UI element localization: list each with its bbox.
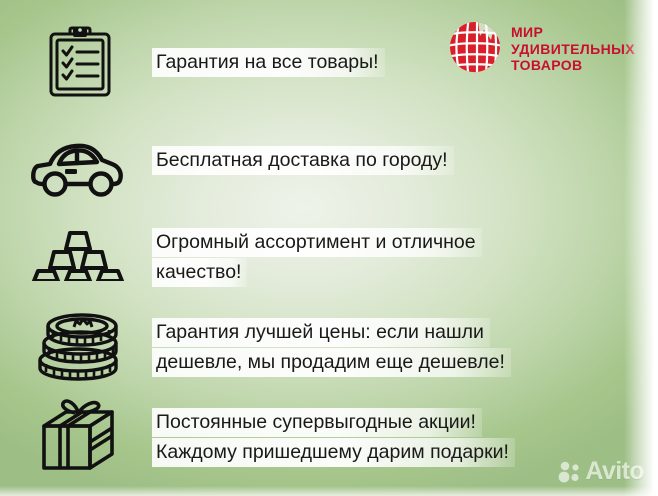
clipboard-checklist-icon xyxy=(42,24,118,100)
feature-text-2-line-1: Бесплатная доставка по городу! xyxy=(152,146,454,175)
brand-logo-line-1: МИР xyxy=(511,24,635,41)
feature-text-3-line-1: Огромный ассортимент и отличное xyxy=(152,228,482,257)
feature-text-2: Бесплатная доставка по городу! xyxy=(152,146,454,175)
feature-text-4-line-1: Гарантия лучшей цены: если нашли xyxy=(152,318,490,347)
avito-dots-icon xyxy=(558,460,582,484)
avito-wordmark: Avito xyxy=(585,459,644,484)
feature-text-5-line-1: Постоянные супервыгодные акции! xyxy=(152,408,482,437)
feature-text-5-line-2: Каждому пришедшему дарим подарки! xyxy=(152,438,515,467)
brand-logo-line-3: ТОВАРОВ xyxy=(511,57,635,74)
brand-logo-text: МИР УДИВИТЕЛЬНЫХ ТОВАРОВ xyxy=(511,24,635,74)
bottom-edge-fade xyxy=(0,486,658,496)
promo-poster: МИР УДИВИТЕЛЬНЫХ ТОВАРОВ xyxy=(0,0,658,496)
feature-text-1-line-1: Гарантия на все товары! xyxy=(152,48,385,77)
feature-text-4-line-2: дешевле, мы продадим еще дешевле! xyxy=(152,348,511,377)
feature-text-3-line-2: качество! xyxy=(152,258,247,287)
feature-text-4: Гарантия лучшей цены: если нашли дешевле… xyxy=(152,318,511,377)
avito-watermark: Avito xyxy=(558,459,644,484)
feature-text-3: Огромный ассортимент и отличное качество… xyxy=(152,228,482,287)
brand-logo-line-2: УДИВИТЕЛЬНЫХ xyxy=(511,41,635,58)
gold-bars-icon xyxy=(30,226,126,282)
feature-text-5: Постоянные супервыгодные акции! Каждому … xyxy=(152,408,515,467)
gift-box-icon xyxy=(36,398,124,472)
coins-stack-icon xyxy=(34,310,122,382)
brand-logo: МИР УДИВИТЕЛЬНЫХ ТОВАРОВ xyxy=(447,18,635,80)
car-icon xyxy=(28,140,128,198)
red-globe-icon xyxy=(447,18,503,80)
feature-text-1: Гарантия на все товары! xyxy=(152,48,385,77)
